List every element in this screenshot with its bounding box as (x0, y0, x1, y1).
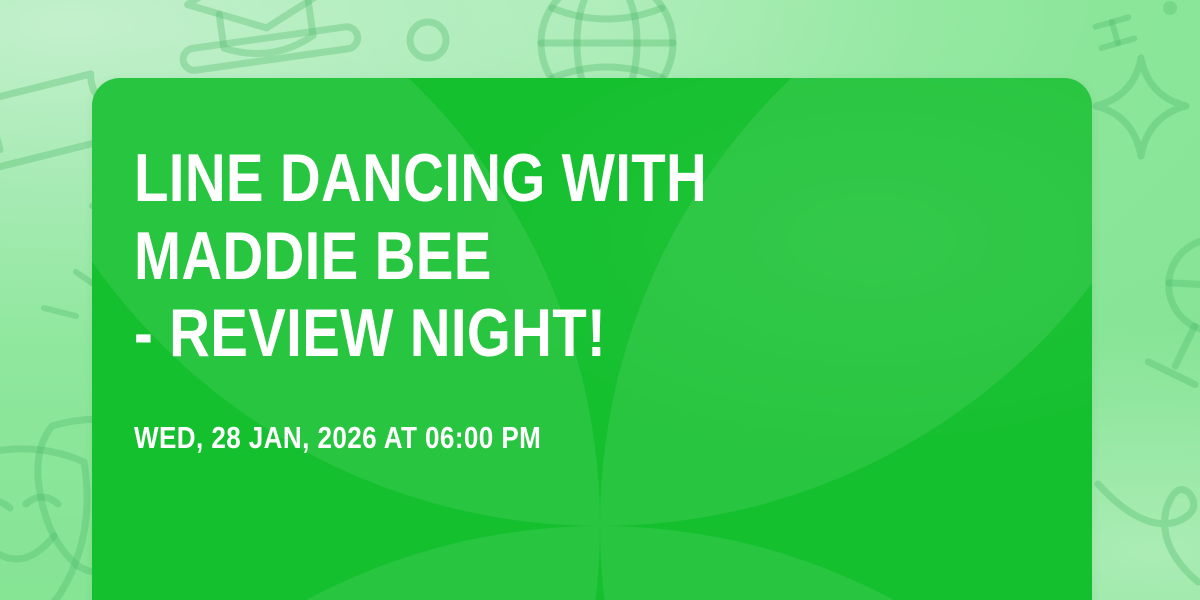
circle-icon (398, 10, 458, 70)
event-title: Line Dancing with Maddie Bee - Review Ni… (134, 140, 896, 373)
confetti-icon (1090, 4, 1180, 56)
event-banner: Line Dancing with Maddie Bee - Review Ni… (0, 0, 1200, 600)
sparkle-icon (1086, 48, 1196, 168)
microphone-icon (1126, 228, 1200, 428)
event-card[interactable]: Line Dancing with Maddie Bee - Review Ni… (92, 78, 1092, 600)
event-datetime: Wed, 28 Jan, 2026 at 06:00 PM (134, 419, 905, 456)
streamer-icon (1094, 470, 1200, 600)
card-content: Line Dancing with Maddie Bee - Review Ni… (134, 140, 1052, 456)
